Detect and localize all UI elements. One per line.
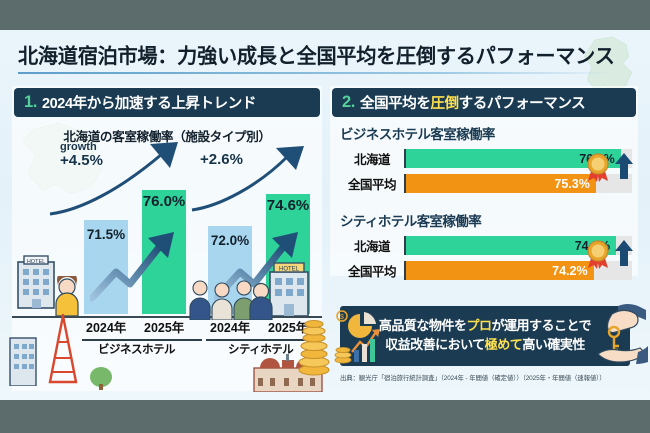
comparison-label-hokkaido: 北海道 [340, 236, 404, 255]
hand-with-key-icon [588, 302, 648, 368]
panel-trend-heading: 2024年から加速する上昇トレンド [42, 92, 256, 113]
comparison-label-national: 全国平均 [340, 261, 404, 280]
tree-icon [88, 366, 114, 390]
banner-line2-b: 高い確実性 [522, 337, 585, 352]
panel-comparison-heading-before: 全国平均を [360, 92, 431, 113]
panel-comparison-heading-highlight: 圧倒 [430, 92, 458, 113]
medal-icon [585, 239, 611, 269]
xtick-business-2024: 2024年 [86, 317, 126, 336]
coins-stack-icon [296, 306, 332, 376]
banner-line-2: 収益改善において極めて高い確実性 [385, 336, 585, 355]
comparison-city-title: シティホテル客室稼働率 [340, 210, 632, 230]
panel-comparison-header: 2. 全国平均を圧倒するパフォーマンス [332, 88, 636, 117]
banner-line2-highlight: 極めて [485, 337, 523, 352]
svg-text:HOTEL: HOTEL [279, 267, 300, 273]
comparison-business-title: ビジネスホテル客室稼働率 [340, 123, 632, 143]
panel-comparison-number: 2. [342, 93, 355, 112]
arrow-up-icon [614, 152, 634, 180]
comparison-label-hokkaido: 北海道 [340, 149, 404, 168]
title-underline [18, 72, 618, 74]
letterbox-top [0, 0, 650, 30]
banner-line2-a: 収益改善において [385, 337, 485, 352]
page-title: 北海道宿泊市場：力強い成長と全国平均を圧倒するパフォーマンス [18, 39, 625, 69]
panel-trend-number: 1. [24, 93, 37, 112]
slide-stage: 北海道宿泊市場：力強い成長と全国平均を圧倒するパフォーマンス 1. 2024年か… [0, 30, 650, 400]
banner-line-1: 高品質な物件をプロが運用することで [379, 317, 591, 336]
tokyo-tower-icon [46, 314, 80, 386]
title-block: 北海道宿泊市場：力強い成長と全国平均を圧倒するパフォーマンス [0, 34, 650, 78]
letterbox-bottom [0, 400, 650, 433]
banner-line1-a: 高品質な物件を [379, 318, 467, 333]
panel-comparison-heading-after: するパフォーマンス [459, 92, 586, 113]
growth-sweep-arrow-icon [188, 146, 318, 216]
source-note: 出典：観光庁「宿泊旅行統計調査」（2024年 - 年間値（確定値））（2025年… [340, 373, 640, 382]
banner-line1-highlight: プロ [466, 318, 491, 333]
growth-chart-coins-icon: $ [334, 310, 390, 366]
medal-icon [585, 152, 611, 182]
person-icon [246, 280, 276, 320]
growth-sweep-arrow-icon [46, 140, 196, 220]
person-icon [52, 276, 82, 316]
comparison-label-national: 全国平均 [340, 174, 404, 193]
banner-line1-b: が運用することで [491, 318, 591, 333]
panel-trend-header: 1. 2024年から加速する上昇トレンド [14, 88, 320, 117]
trend-arrow-icon [90, 216, 190, 308]
group-label-business: ビジネスホテル [98, 341, 175, 357]
infographic-root: 北海道宿泊市場：力強い成長と全国平均を圧倒するパフォーマンス 1. 2024年か… [0, 0, 650, 433]
xtick-business-2025: 2025年 [144, 317, 184, 336]
svg-text:HOTEL: HOTEL [27, 259, 45, 265]
arrow-up-icon [614, 239, 634, 267]
svg-text:$: $ [340, 314, 344, 321]
